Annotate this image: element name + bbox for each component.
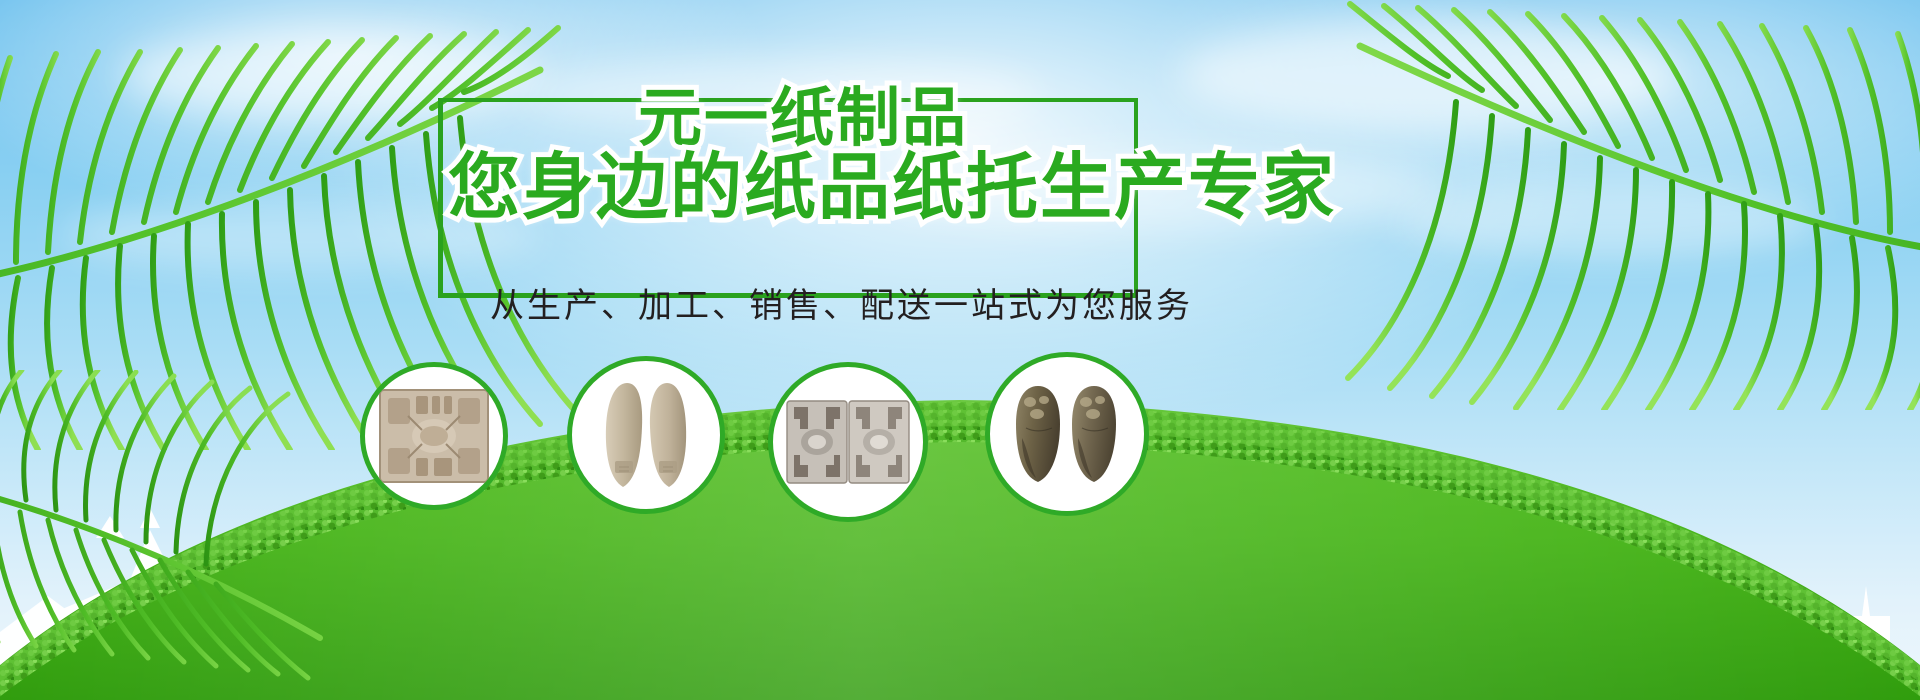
product-circle-3[interactable] — [768, 362, 928, 522]
paper-pulp-packaging-pair-icon — [786, 399, 910, 485]
product-circle-1[interactable] — [360, 362, 508, 510]
paper-pulp-shoe-inserts-icon — [591, 375, 701, 495]
hero-banner: 元一纸制品 您身边的纸品纸托生产专家 从生产、加工、销售、配送一站式为您服务 — [0, 0, 1920, 700]
paper-pulp-corner-tray-icon — [378, 386, 490, 486]
headline-group: 元一纸制品 您身边的纸品纸托生产专家 从生产、加工、销售、配送一站式为您服务 — [430, 80, 1170, 310]
cloud — [1400, 180, 1820, 260]
paper-pulp-shoe-forms-icon — [1008, 380, 1126, 488]
product-circle-2[interactable] — [567, 356, 725, 514]
headline-line-1: 元一纸制品 — [638, 86, 968, 150]
headline-line-2: 您身边的纸品纸托生产专家 — [448, 152, 1336, 224]
cloud — [1180, 20, 1680, 130]
subtitle-text: 从生产、加工、销售、配送一站式为您服务 — [490, 278, 1193, 327]
product-circle-4[interactable] — [985, 352, 1149, 516]
shrub-strip — [0, 300, 1920, 700]
